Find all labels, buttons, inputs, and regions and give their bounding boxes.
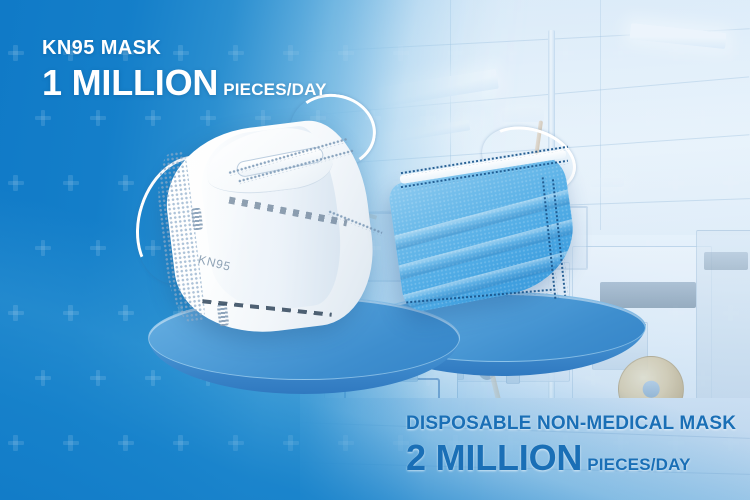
medical-cross-icon [63,305,79,321]
medical-cross-icon [723,305,739,321]
medical-cross-icon [558,45,574,61]
medical-cross-icon [723,45,739,61]
medical-cross-icon [640,240,656,256]
medical-cross-icon [90,370,106,386]
medical-cross-icon [63,175,79,191]
medical-cross-icon [393,45,409,61]
medical-cross-icon [613,45,629,61]
medical-cross-icon [695,240,711,256]
medical-cross-icon [283,435,299,451]
medical-cross-icon [668,45,684,61]
surgical-capacity-callout: DISPOSABLE NON-MEDICAL MASK 2 MILLION PI… [406,414,736,476]
surgical-capacity-unit: PIECES/DAY [587,456,690,473]
medical-cross-icon [475,110,491,126]
medical-cross-icon [118,435,134,451]
kn95-mask: KN95 [140,108,390,343]
medical-cross-icon [695,110,711,126]
kn95-product-name: KN95 MASK [42,38,327,58]
medical-cross-icon [8,45,24,61]
medical-cross-icon [35,110,51,126]
medical-cross-icon [585,240,601,256]
medical-cross-icon [63,435,79,451]
medical-cross-icon [668,305,684,321]
medical-cross-icon [448,45,464,61]
mask-capacity-banner: KN95 KN95 MASK 1 MILLION PIECES/DAY DISP… [0,0,750,500]
medical-cross-icon [90,110,106,126]
medical-cross-icon [338,45,354,61]
medical-cross-icon [35,240,51,256]
kn95-capacity-number: 1 MILLION [42,65,218,101]
medical-cross-icon [613,175,629,191]
surgical-capacity-number: 2 MILLION [406,440,582,476]
medical-cross-icon [35,370,51,386]
medical-cross-icon [420,110,436,126]
surgical-mask [395,150,580,315]
medical-cross-icon [338,435,354,451]
kn95-capacity-callout: KN95 MASK 1 MILLION PIECES/DAY [42,38,327,101]
medical-cross-icon [668,175,684,191]
medical-cross-icon [530,110,546,126]
medical-cross-icon [90,240,106,256]
medical-cross-icon [8,305,24,321]
medical-cross-icon [695,370,711,386]
medical-cross-icon [118,175,134,191]
medical-cross-icon [8,175,24,191]
kn95-capacity-unit: PIECES/DAY [223,81,326,98]
medical-cross-icon [723,175,739,191]
medical-cross-icon [118,305,134,321]
medical-cross-icon [8,435,24,451]
surgical-product-name: DISPOSABLE NON-MEDICAL MASK [406,414,736,433]
medical-cross-icon [228,435,244,451]
medical-cross-icon [585,110,601,126]
medical-cross-icon [503,45,519,61]
medical-cross-icon [173,435,189,451]
medical-cross-icon [640,110,656,126]
